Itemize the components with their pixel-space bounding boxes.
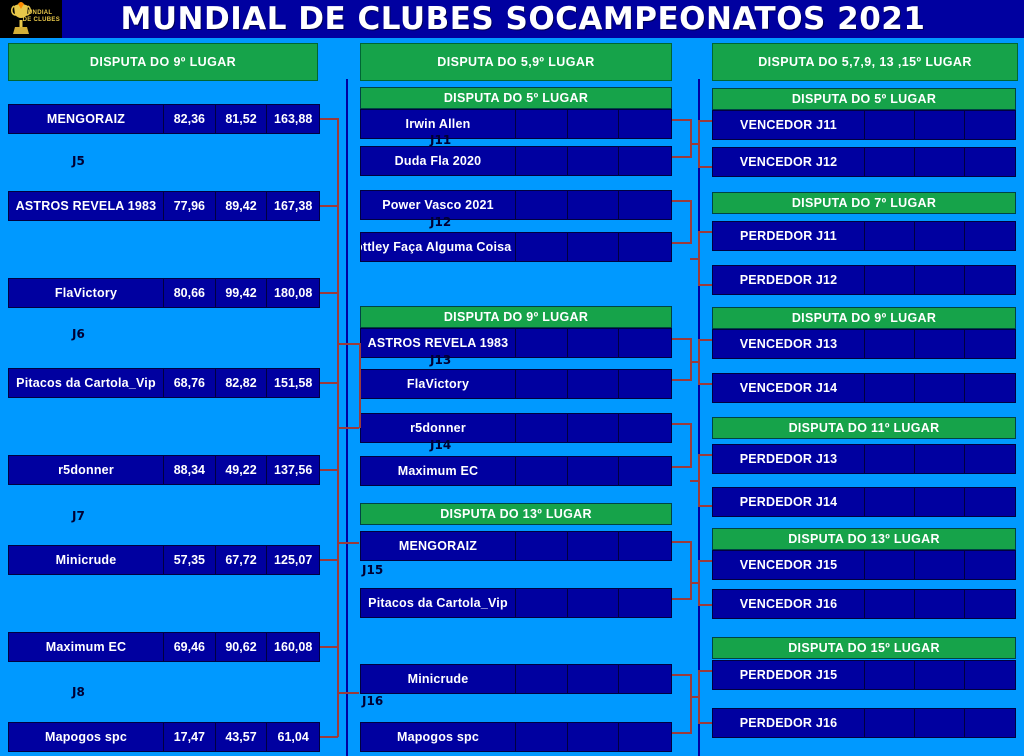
team-score-2	[915, 551, 965, 579]
bracket-connector	[672, 541, 692, 543]
bracket-connector	[337, 427, 359, 429]
bracket-connector	[672, 200, 692, 202]
table-row[interactable]: VENCEDOR J12	[712, 147, 1016, 177]
team-name: PERDEDOR J14	[713, 488, 865, 516]
table-row[interactable]: MENGORAIZ 82,36 81,52 163,88	[8, 104, 320, 134]
bracket-connector	[698, 505, 712, 507]
team-total: 125,07	[267, 546, 319, 574]
bracket-connector	[690, 423, 692, 467]
team-score-2	[915, 488, 965, 516]
team-score-1: 88,34	[164, 456, 216, 484]
team-score-1	[516, 370, 568, 398]
bracket-connector	[337, 692, 359, 694]
bracket-connector	[672, 674, 692, 676]
bracket-connector	[698, 166, 712, 168]
team-name: Pitacos da Cartola_Vip	[361, 589, 516, 617]
team-score-2	[568, 665, 620, 693]
column-header-middle: DISPUTA DO 5,9º LUGAR	[360, 43, 672, 81]
team-total	[965, 445, 1015, 473]
table-row[interactable]: PERDEDOR J11	[712, 221, 1016, 251]
bracket-connector	[320, 118, 338, 120]
team-score-1	[865, 111, 915, 139]
team-total: 167,38	[267, 192, 319, 220]
match-code-j14: J14	[430, 438, 451, 452]
table-row[interactable]: FlaVictory	[360, 369, 672, 399]
team-name: VENCEDOR J12	[713, 148, 865, 176]
match-code-j6: J6	[72, 327, 85, 341]
title-bar: MUNDIAL DE CLUBES MUNDIAL DE CLUBES SOCA…	[0, 0, 1024, 38]
team-name: Pitacos da Cartola_Vip	[9, 369, 164, 397]
match-code-j13: J13	[430, 353, 451, 367]
team-score-1	[865, 222, 915, 250]
team-name: PERDEDOR J11	[713, 222, 865, 250]
team-total: 160,08	[267, 633, 319, 661]
table-row[interactable]: Maximum EC	[360, 456, 672, 486]
team-total	[619, 665, 671, 693]
match-code-j5: J5	[72, 154, 85, 168]
table-row[interactable]: VENCEDOR J11	[712, 110, 1016, 140]
table-row[interactable]: VENCEDOR J13	[712, 329, 1016, 359]
team-total	[965, 661, 1015, 689]
team-name: PERDEDOR J13	[713, 445, 865, 473]
team-score-1	[516, 233, 568, 261]
match-code-j12: J12	[430, 215, 451, 229]
bracket-connector	[690, 338, 692, 380]
team-name: ASTROS REVELA 1983	[9, 192, 164, 220]
section-banner: DISPUTA DO 5º LUGAR	[712, 88, 1016, 110]
team-score-1: 17,47	[164, 723, 216, 751]
column-header-right: DISPUTA DO 5,7,9, 13 ,15º LUGAR	[712, 43, 1018, 81]
team-score-2	[568, 589, 620, 617]
team-total	[965, 222, 1015, 250]
match-code-j11: J11	[430, 133, 451, 147]
team-name: Minicrude	[361, 665, 516, 693]
team-score-2: 89,42	[216, 192, 268, 220]
team-name: ottley Faça Alguma Coisa	[361, 233, 516, 261]
team-score-1	[865, 551, 915, 579]
team-total	[619, 457, 671, 485]
team-score-2: 82,82	[216, 369, 268, 397]
team-score-2	[915, 148, 965, 176]
team-name: VENCEDOR J14	[713, 374, 865, 402]
section-banner: DISPUTA DO 11º LUGAR	[712, 417, 1016, 439]
bracket-connector	[672, 242, 692, 244]
team-score-1	[516, 589, 568, 617]
bracket-connector	[698, 722, 712, 724]
table-row[interactable]: Minicrude	[360, 664, 672, 694]
section-banner: DISPUTA DO 13º LUGAR	[712, 528, 1016, 550]
team-name: VENCEDOR J11	[713, 111, 865, 139]
team-name: Duda Fla 2020	[361, 147, 516, 175]
table-row[interactable]: VENCEDOR J16	[712, 589, 1016, 619]
table-row[interactable]: PERDEDOR J12	[712, 265, 1016, 295]
team-score-1	[865, 590, 915, 618]
team-score-2	[915, 709, 965, 737]
team-score-1: 80,66	[164, 279, 216, 307]
team-score-2	[568, 457, 620, 485]
team-name: MENGORAIZ	[9, 105, 164, 133]
team-score-1	[516, 191, 568, 219]
team-score-1	[865, 709, 915, 737]
tournament-logo: MUNDIAL DE CLUBES	[0, 0, 62, 38]
team-score-2	[568, 370, 620, 398]
team-name: Mapogos spc	[361, 723, 516, 751]
table-row[interactable]: PERDEDOR J15	[712, 660, 1016, 690]
team-total	[619, 110, 671, 138]
section-banner: DISPUTA DO 15º LUGAR	[712, 637, 1016, 659]
table-row[interactable]: Maximum EC 69,46 90,62 160,08	[8, 632, 320, 662]
table-row[interactable]: Duda Fla 2020	[360, 146, 672, 176]
team-name: FlaVictory	[361, 370, 516, 398]
team-name: r5donner	[9, 456, 164, 484]
team-score-2	[915, 222, 965, 250]
table-row[interactable]: Minicrude 57,35 67,72 125,07	[8, 545, 320, 575]
team-score-2	[915, 374, 965, 402]
team-total	[965, 266, 1015, 294]
team-score-2	[568, 723, 620, 751]
page-title: MUNDIAL DE CLUBES SOCAMPEONATOS 2021	[62, 1, 1024, 37]
table-row[interactable]: VENCEDOR J14	[712, 373, 1016, 403]
table-row[interactable]: Irwin Allen	[360, 109, 672, 139]
team-total	[619, 414, 671, 442]
team-score-2: 81,52	[216, 105, 268, 133]
section-banner: DISPUTA DO 13º LUGAR	[360, 503, 672, 525]
team-total	[965, 590, 1015, 618]
team-score-2	[568, 233, 620, 261]
team-score-1	[865, 148, 915, 176]
bracket-connector	[690, 143, 700, 145]
team-total	[619, 723, 671, 751]
team-total	[965, 709, 1015, 737]
team-total	[619, 191, 671, 219]
team-score-2	[568, 110, 620, 138]
team-total	[619, 589, 671, 617]
logo-text-line1: MUNDIAL	[23, 10, 60, 17]
table-row[interactable]: Mapogos spc	[360, 722, 672, 752]
team-total	[619, 370, 671, 398]
team-total	[619, 147, 671, 175]
bracket-connector	[690, 200, 692, 243]
team-name: PERDEDOR J16	[713, 709, 865, 737]
bracket-spine	[337, 162, 339, 542]
table-row[interactable]: PERDEDOR J16	[712, 708, 1016, 738]
bracket-connector	[320, 205, 338, 207]
bracket-connector	[672, 732, 692, 734]
table-row[interactable]: VENCEDOR J15	[712, 550, 1016, 580]
bracket-connector	[698, 604, 712, 606]
bracket-connector	[690, 258, 700, 260]
team-score-2: 43,57	[216, 723, 268, 751]
section-banner: DISPUTA DO 7º LUGAR	[712, 192, 1016, 214]
team-score-2	[915, 330, 965, 358]
table-row[interactable]: Power Vasco 2021	[360, 190, 672, 220]
section-banner: DISPUTA DO 9º LUGAR	[360, 306, 672, 328]
table-row[interactable]: r5donner 88,34 49,22 137,56	[8, 455, 320, 485]
table-row[interactable]: ASTROS REVELA 1983	[360, 328, 672, 358]
table-row[interactable]: MENGORAIZ	[360, 531, 672, 561]
team-score-2	[915, 445, 965, 473]
bracket-connector	[320, 469, 338, 471]
bracket-connector	[672, 379, 692, 381]
team-total: 137,56	[267, 456, 319, 484]
team-name: Minicrude	[9, 546, 164, 574]
section-banner: DISPUTA DO 9º LUGAR	[712, 307, 1016, 329]
table-row[interactable]: ASTROS REVELA 1983 77,96 89,42 167,38	[8, 191, 320, 221]
match-code-j16: J16	[362, 694, 383, 708]
team-score-2: 99,42	[216, 279, 268, 307]
bracket-connector	[698, 231, 712, 233]
team-total	[619, 329, 671, 357]
team-name: Maximum EC	[361, 457, 516, 485]
team-total	[965, 488, 1015, 516]
team-score-1	[865, 488, 915, 516]
team-score-1: 69,46	[164, 633, 216, 661]
logo-text: MUNDIAL DE CLUBES	[23, 10, 60, 24]
team-score-2	[915, 111, 965, 139]
bracket-connector	[672, 423, 692, 425]
team-total	[965, 374, 1015, 402]
match-code-j8: J8	[72, 685, 85, 699]
team-score-1	[865, 266, 915, 294]
bracket-connector	[320, 382, 338, 384]
bracket-connector	[698, 560, 712, 562]
match-code-j7: J7	[72, 509, 85, 523]
team-score-2: 67,72	[216, 546, 268, 574]
team-score-2	[915, 266, 965, 294]
bracket-connector	[698, 383, 712, 385]
team-score-1	[516, 110, 568, 138]
team-score-1	[865, 445, 915, 473]
team-score-2: 90,62	[216, 633, 268, 661]
team-total	[965, 551, 1015, 579]
team-score-1	[516, 147, 568, 175]
team-score-1	[516, 723, 568, 751]
bracket-connector	[698, 670, 712, 672]
team-total: 163,88	[267, 105, 319, 133]
team-name: PERDEDOR J12	[713, 266, 865, 294]
team-name: FlaVictory	[9, 279, 164, 307]
match-code-j15: J15	[362, 563, 383, 577]
bracket-connector	[690, 361, 700, 363]
bracket-connector	[698, 120, 712, 122]
team-total	[619, 532, 671, 560]
bracket-connector	[690, 696, 700, 698]
table-row[interactable]: ottley Faça Alguma Coisa	[360, 232, 672, 262]
table-row[interactable]: FlaVictory 80,66 99,42 180,08	[8, 278, 320, 308]
team-score-2	[915, 590, 965, 618]
team-score-2	[568, 532, 620, 560]
team-score-1	[865, 374, 915, 402]
team-name: MENGORAIZ	[361, 532, 516, 560]
bracket-connector	[320, 646, 338, 648]
team-name: VENCEDOR J15	[713, 551, 865, 579]
section-banner: DISPUTA DO 5º LUGAR	[360, 87, 672, 109]
column-divider-2	[698, 79, 700, 756]
bracket-connector	[337, 343, 359, 345]
table-row[interactable]: PERDEDOR J14	[712, 487, 1016, 517]
team-score-1: 57,35	[164, 546, 216, 574]
bracket-connector	[690, 674, 692, 733]
team-score-1	[516, 532, 568, 560]
team-total	[965, 111, 1015, 139]
table-row[interactable]: Mapogos spc 17,47 43,57 61,04	[8, 722, 320, 752]
team-score-1: 68,76	[164, 369, 216, 397]
table-row[interactable]: PERDEDOR J13	[712, 444, 1016, 474]
team-score-1	[865, 661, 915, 689]
team-score-1: 77,96	[164, 192, 216, 220]
team-score-1	[516, 457, 568, 485]
team-name: VENCEDOR J13	[713, 330, 865, 358]
team-total	[965, 148, 1015, 176]
logo-text-line2: DE CLUBES	[23, 17, 60, 24]
bracket-connector	[672, 338, 692, 340]
team-score-1	[516, 665, 568, 693]
team-score-2	[568, 147, 620, 175]
team-score-1	[865, 330, 915, 358]
bracket-connector	[698, 284, 712, 286]
bracket-spine	[359, 343, 361, 428]
column-divider-1	[346, 79, 348, 756]
column-header-left: DISPUTA DO 9º LUGAR	[8, 43, 318, 81]
bracket-connector	[690, 541, 692, 599]
team-name: Maximum EC	[9, 633, 164, 661]
team-total	[619, 233, 671, 261]
bracket-connector	[690, 119, 692, 157]
bracket-connector	[320, 559, 338, 561]
team-score-2	[568, 329, 620, 357]
bracket-connector	[690, 582, 700, 584]
bracket-connector	[698, 339, 712, 341]
bracket-connector	[320, 292, 338, 294]
team-name: Mapogos spc	[9, 723, 164, 751]
team-score-2	[568, 414, 620, 442]
bracket-connector	[672, 598, 692, 600]
bracket-connector	[672, 119, 692, 121]
bracket-connector	[320, 736, 338, 738]
bracket-spine	[337, 542, 339, 692]
team-name: PERDEDOR J15	[713, 661, 865, 689]
team-total	[965, 330, 1015, 358]
team-total: 180,08	[267, 279, 319, 307]
table-row[interactable]: r5donner	[360, 413, 672, 443]
bracket-connector	[337, 542, 359, 544]
team-score-2: 49,22	[216, 456, 268, 484]
bracket-connector	[698, 454, 712, 456]
team-total: 61,04	[267, 723, 319, 751]
table-row[interactable]: Pitacos da Cartola_Vip	[360, 588, 672, 618]
bracket-connector	[672, 156, 692, 158]
team-score-1	[516, 329, 568, 357]
team-total: 151,58	[267, 369, 319, 397]
team-score-1: 82,36	[164, 105, 216, 133]
team-name: VENCEDOR J16	[713, 590, 865, 618]
bracket-connector	[672, 466, 692, 468]
team-score-2	[568, 191, 620, 219]
team-score-2	[915, 661, 965, 689]
bracket-connector	[690, 480, 700, 482]
table-row[interactable]: Pitacos da Cartola_Vip 68,76 82,82 151,5…	[8, 368, 320, 398]
team-score-1	[516, 414, 568, 442]
